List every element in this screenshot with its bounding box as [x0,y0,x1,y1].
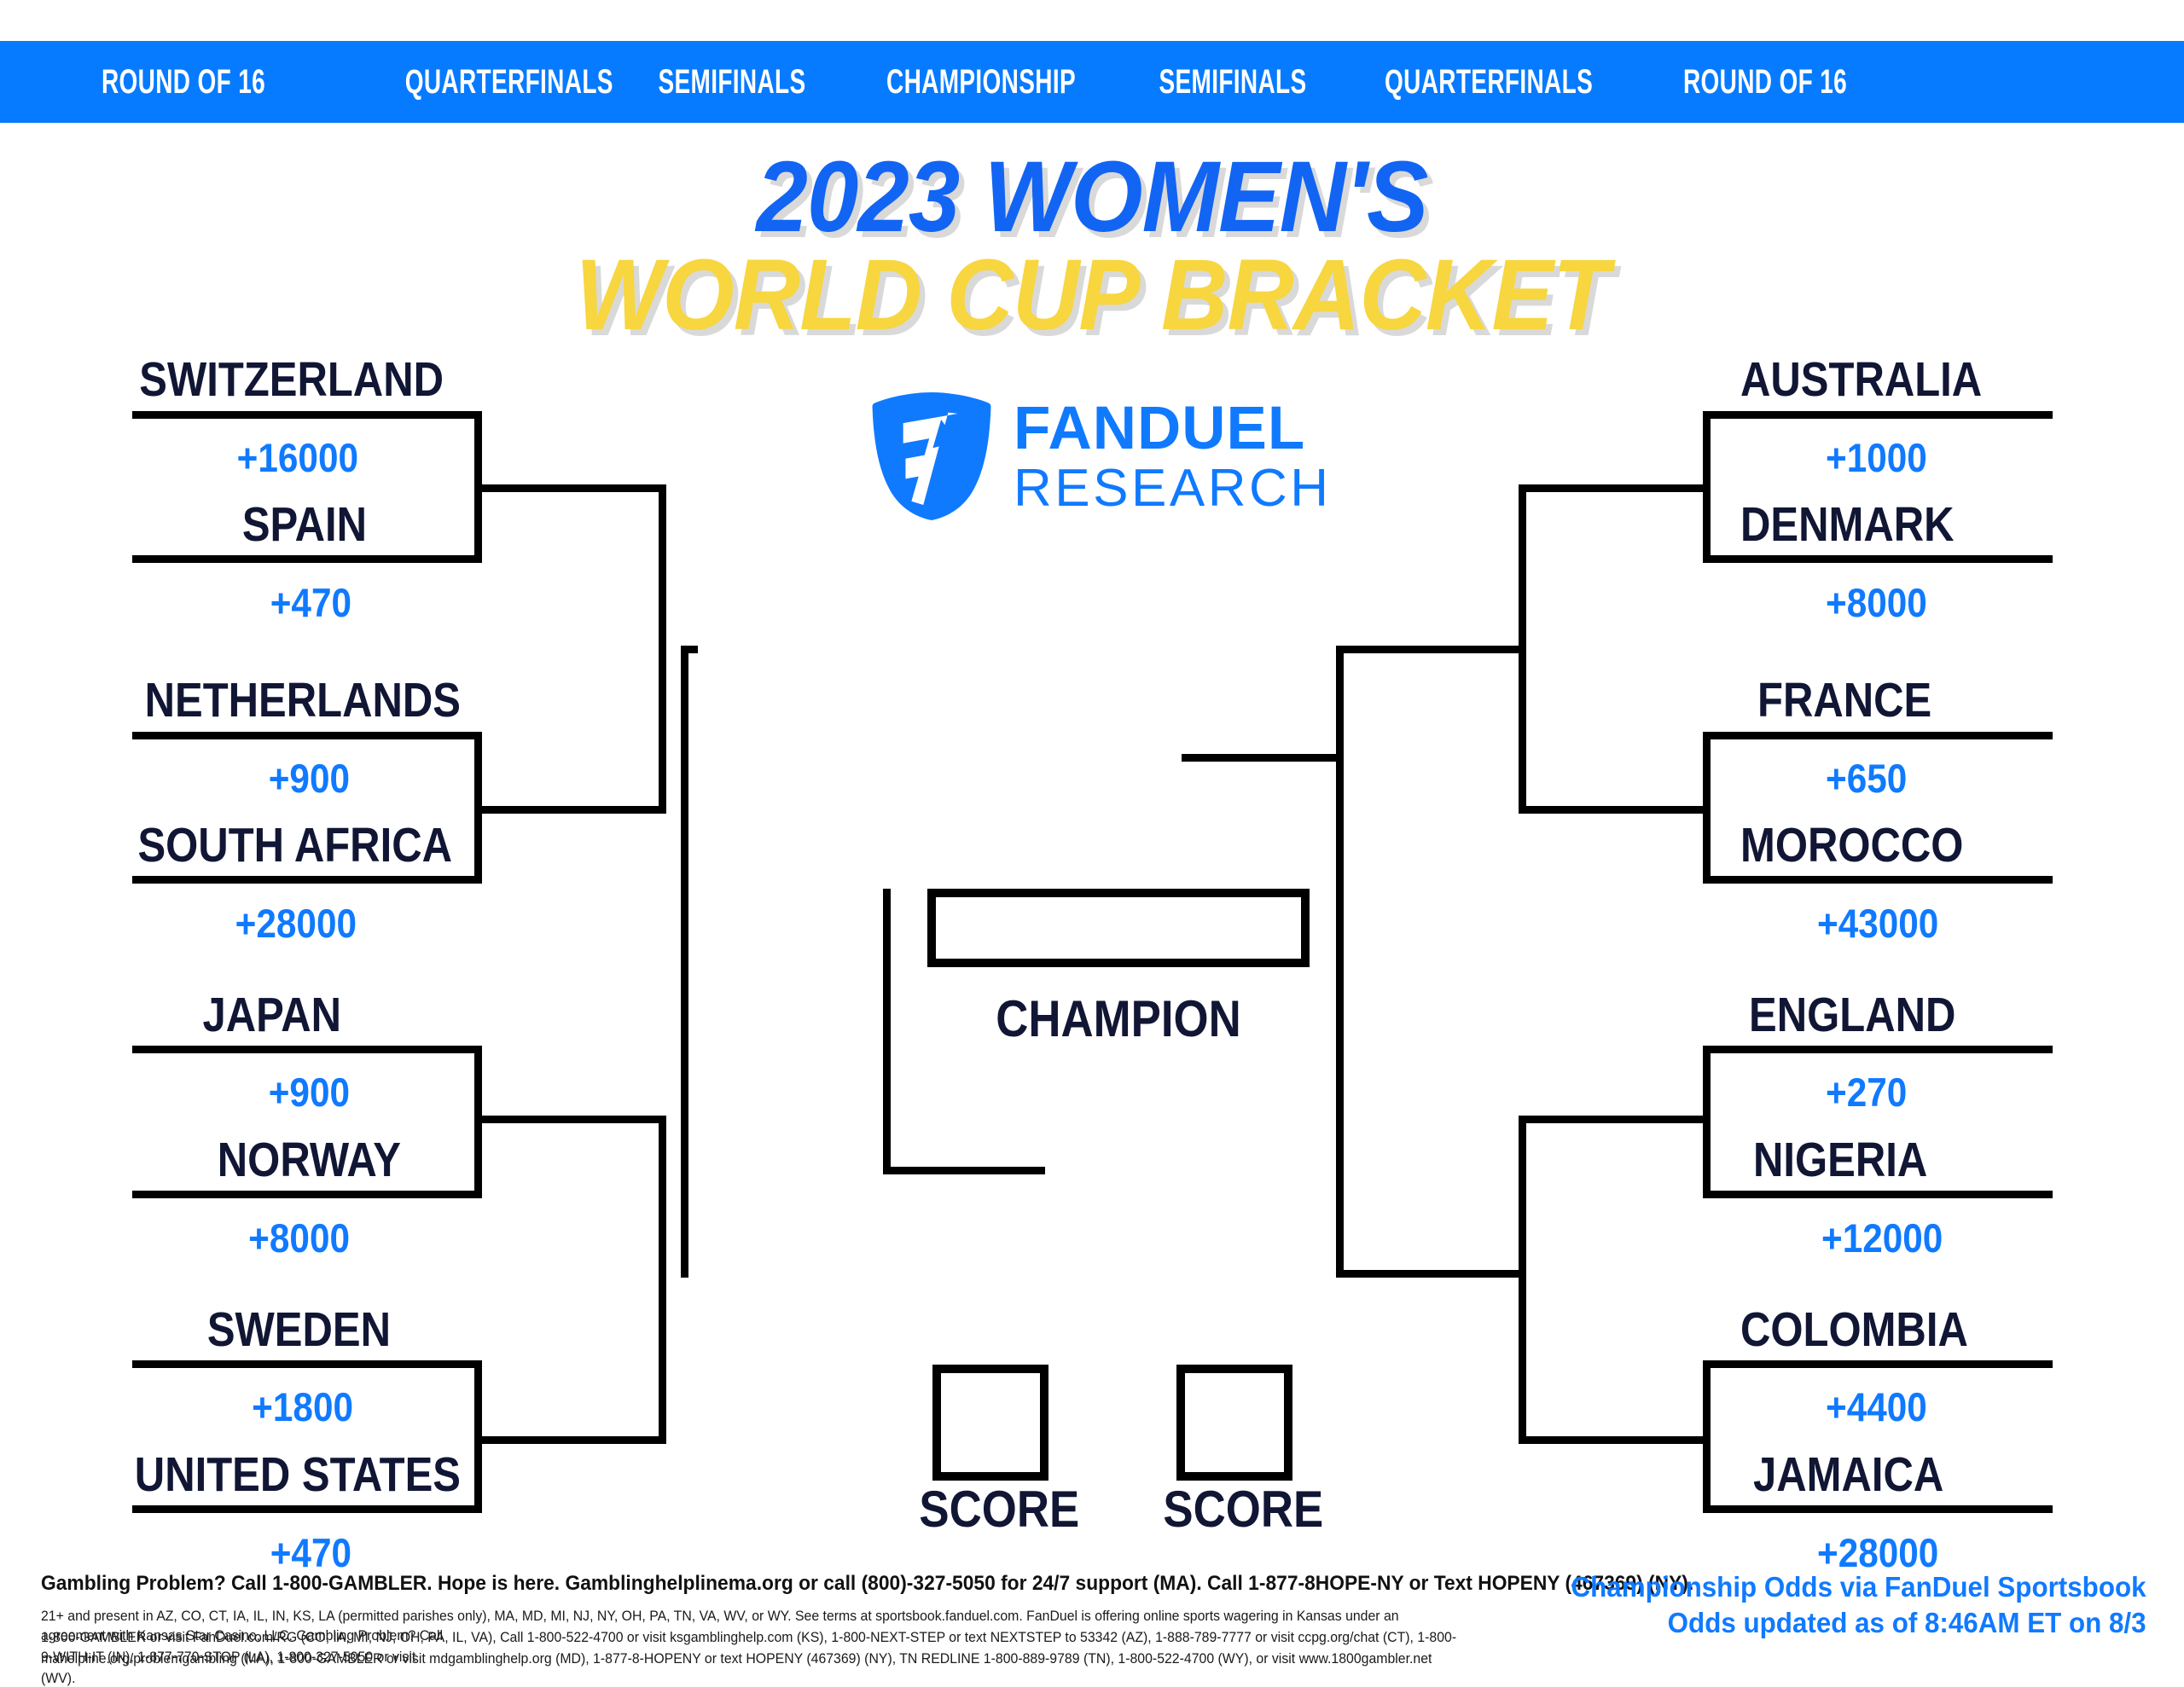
page-title-line-1: 2023 WOMEN'S [87,149,2096,246]
team-name-left-1-bottom: SOUTH AFRICA [63,817,452,873]
team-name-right-3-top: COLOMBIA [1740,1301,2122,1358]
bracket-line-left-qf2-top-in [474,1116,666,1123]
team-name-right-0-top: AUSTRALIA [1740,351,2122,408]
bracket-line-right-m2-bottom [1703,1191,2053,1198]
team-name-right-1-top: FRANCE [1757,672,2124,728]
odds-left-0-bottom: +470 [35,579,351,626]
score-label-left: SCORE [919,1480,1061,1539]
odds-right-0-top: +1000 [1826,434,2148,481]
team-name-right-2-bottom: NIGERIA [1753,1132,2123,1188]
bracket-line-left-qf-bottom-in [474,806,666,814]
team-name-left-0-bottom: SPAIN [51,496,367,553]
bracket-line-left-qf-top-in [474,484,666,492]
odds-left-2-bottom: +8000 [35,1215,350,1261]
bracket-line-left-semi-to-final [681,646,698,653]
fanduel-research-logo: FANDUEL RESEARCH [872,388,1350,525]
team-name-right-1-bottom: MOROCCO [1740,817,2122,873]
bracket-line-right-m0-left [1703,411,1711,563]
team-name-left-2-bottom: NORWAY [56,1132,401,1188]
bracket-line-left-m3-bottom [132,1505,482,1513]
bracket-line-left-m3-top [132,1360,482,1368]
bracket-line-right-qf2-feed-bot [1519,1436,1711,1444]
bracket-line-left-qf2-bottom-in [474,1436,666,1444]
team-name-left-0-top: SWITZERLAND [62,351,444,408]
fanduel-shield-icon [872,392,991,520]
odds-right-2-bottom: +12000 [1821,1215,2148,1261]
bracket-line-left-m1-bottom [132,876,482,884]
bracket-line-right-qf-feed-top [1519,484,1711,492]
bracket-line-left-m0-top [132,411,482,419]
bracket-line-left-final-feed [883,1167,1045,1174]
bracket-line-right-m0-top [1703,411,2053,419]
score-label-right: SCORE [1163,1480,1305,1539]
team-name-right-2-top: ENGLAND [1749,987,2123,1043]
page-title-line-2: WORLD CUP BRACKET [87,247,2096,344]
bracket-line-left-m2-top [132,1046,482,1053]
bracket-page: ROUND OF 16 QUARTERFINALS SEMIFINALS CHA… [0,0,2184,1687]
round-label-quarterfinals-left: QUARTERFINALS [405,63,584,101]
team-name-right-3-bottom: JAMAICA [1753,1446,2123,1503]
fanduel-research-subtitle: RESEARCH [1014,462,1332,515]
bracket-line-right-m0-bottom [1703,555,2053,563]
bracket-line-left-semi-vertical [681,646,688,1278]
bracket-line-right-m3-top [1703,1360,2053,1368]
round-label-semifinals-right: SEMIFINALS [1153,63,1312,101]
odds-right-0-bottom: +8000 [1826,579,2148,626]
bracket-line-left-final-vertical [883,889,891,1171]
team-name-left-2-top: JAPAN [48,987,341,1043]
bracket-line-right-final-feed [1182,754,1344,762]
odds-left-1-top: +900 [35,755,350,802]
fanduel-wordmark: FANDUEL [1014,398,1332,459]
bracket-line-right-qf-feed-bot [1519,806,1711,814]
round-label-championship: CHAMPIONSHIP [885,63,1078,101]
terms-fine-print-line-3: mahelpline.org/problemgambling (MA), 1-8… [41,1649,1466,1687]
bracket-line-left-m0-bottom [132,555,482,563]
page-title: 2023 WOMEN'S WORLD CUP BRACKET [0,149,2184,345]
odds-right-1-top: +650 [1826,755,2148,802]
bracket-line-left-m1-top [132,732,482,739]
team-name-left-3-bottom: UNITED STATES [65,1446,461,1503]
round-label-semifinals-left: SEMIFINALS [654,63,810,101]
odds-left-0-top: +16000 [36,434,358,481]
round-header-bar: ROUND OF 16 QUARTERFINALS SEMIFINALS CHA… [0,41,2184,123]
team-name-left-3-top: SWEDEN [55,1301,391,1358]
bracket-line-right-qf2-in [1336,1270,1524,1278]
champion-input-box[interactable] [927,889,1310,967]
bracket-line-right-qf2-feed-top [1519,1116,1711,1123]
bracket-line-left-qf2-right [659,1116,666,1444]
bracket-line-right-m2-top [1703,1046,2053,1053]
bracket-line-left-qf-top-right [659,484,666,814]
bracket-line-left-m2-bottom [132,1191,482,1198]
odds-right-1-bottom: +43000 [1817,900,2147,947]
bracket-line-right-m1-left [1703,732,1711,884]
odds-left-3-top: +1800 [35,1383,353,1430]
odds-left-1-bottom: +28000 [36,900,357,947]
odds-credit: Championship Odds via FanDuel Sportsbook… [1541,1569,2146,1641]
bracket-line-right-m1-top [1703,732,2053,739]
champion-label: CHAMPION [950,989,1287,1048]
round-label-round-of-16-left: ROUND OF 16 [55,63,312,101]
round-label-round-of-16-right: ROUND OF 16 [1651,63,1879,101]
odds-source-line: Championship Odds via FanDuel Sportsbook [1571,1569,2146,1605]
odds-timestamp-line: Odds updated as of 8:46AM ET on 8/3 [1571,1605,2146,1641]
odds-left-2-top: +900 [35,1069,350,1116]
bracket-line-right-m3-left [1703,1360,1711,1512]
bracket-line-right-m3-bottom [1703,1505,2053,1513]
odds-left-3-bottom: +470 [35,1529,351,1576]
score-box-left[interactable] [932,1365,1048,1481]
team-name-right-0-bottom: DENMARK [1740,496,2122,553]
round-label-quarterfinals-right: QUARTERFINALS [1385,63,1564,101]
bracket-line-right-m2-left [1703,1046,1711,1197]
responsible-gambling-headline: Gambling Problem? Call 1-800-GAMBLER. Ho… [41,1572,1693,1596]
bracket-line-right-qf2-right [1519,1116,1526,1444]
odds-right-2-top: +270 [1826,1069,2148,1116]
odds-right-3-top: +4400 [1826,1383,2148,1430]
team-name-left-1-top: NETHERLANDS [65,672,461,728]
bracket-line-right-qf-top-in [1336,646,1524,653]
bracket-line-right-m1-bottom [1703,876,2053,884]
bracket-line-right-semi-vertical [1336,646,1344,1278]
score-box-right[interactable] [1176,1365,1292,1481]
